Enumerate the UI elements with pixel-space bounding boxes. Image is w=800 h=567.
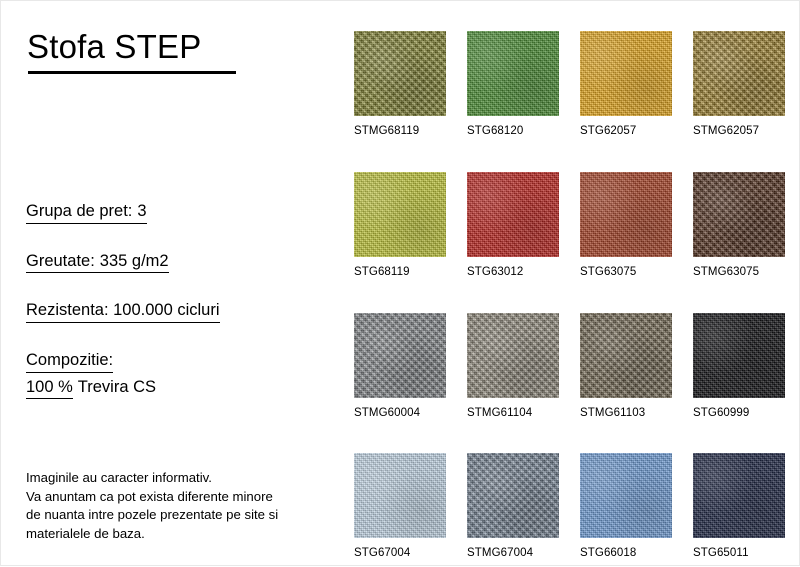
spec-resistance-label: Rezistenta: 100.000 cicluri xyxy=(26,300,220,323)
swatch-code-label: STG68120 xyxy=(467,125,559,139)
swatch-code-label: STG62057 xyxy=(580,125,672,139)
swatch-cell[interactable]: STMG62057 xyxy=(693,31,785,139)
fabric-swatch[interactable] xyxy=(580,453,672,538)
swatch-code-label: STG65011 xyxy=(693,547,785,561)
swatch-code-label: STG66018 xyxy=(580,547,672,561)
swatch-cell[interactable]: STG67004 xyxy=(354,453,446,561)
swatch-code-label: STG67004 xyxy=(354,547,446,561)
spec-resistance: Rezistenta: 100.000 cicluri xyxy=(26,300,326,323)
swatch-cell[interactable]: STG62057 xyxy=(580,31,672,139)
fabric-swatch[interactable] xyxy=(467,31,559,116)
page-title: Stofa STEP xyxy=(27,29,201,65)
spec-weight-value: 335 g/m2 xyxy=(95,252,169,270)
disclaimer-line-2: Va anuntam ca pot exista diferente minor… xyxy=(26,488,331,507)
swatch-code-label: STMG63075 xyxy=(693,266,785,280)
swatch-cell[interactable]: STMG67004 xyxy=(467,453,559,561)
specs-list: Grupa de pret:3 Greutate:335 g/m2 Rezist… xyxy=(26,201,326,399)
swatch-cell[interactable]: STG63075 xyxy=(580,172,672,280)
swatch-code-label: STMG61104 xyxy=(467,407,559,421)
fabric-swatch[interactable] xyxy=(467,453,559,538)
spec-composition-material: Trevira CS xyxy=(73,378,156,396)
fabric-swatch[interactable] xyxy=(693,31,785,116)
swatch-cell[interactable]: STMG60004 xyxy=(354,313,446,421)
spec-price-group-label: Grupa de pret: xyxy=(26,202,132,220)
title-underline xyxy=(28,71,236,74)
swatch-cell[interactable]: STMG61104 xyxy=(467,313,559,421)
swatch-grid: STMG68119STG68120STG62057STMG62057STG681… xyxy=(354,31,784,561)
spec-price-group: Grupa de pret:3 xyxy=(26,201,326,224)
fabric-swatch[interactable] xyxy=(693,313,785,398)
swatch-cell[interactable]: STMG68119 xyxy=(354,31,446,139)
swatch-cell[interactable]: STMG63075 xyxy=(693,172,785,280)
swatch-code-label: STG68119 xyxy=(354,266,446,280)
fabric-swatch[interactable] xyxy=(354,453,446,538)
spec-weight-text: Greutate:335 g/m2 xyxy=(26,251,169,274)
fabric-swatch[interactable] xyxy=(580,313,672,398)
fabric-swatch[interactable] xyxy=(467,313,559,398)
swatch-cell[interactable]: STG63012 xyxy=(467,172,559,280)
swatch-code-label: STG60999 xyxy=(693,407,785,421)
swatch-cell[interactable]: STG68120 xyxy=(467,31,559,139)
fabric-swatch[interactable] xyxy=(467,172,559,257)
spec-price-group-text: Grupa de pret:3 xyxy=(26,201,147,224)
swatch-cell[interactable]: STMG61103 xyxy=(580,313,672,421)
swatch-code-label: STMG67004 xyxy=(467,547,559,561)
swatch-cell[interactable]: STG60999 xyxy=(693,313,785,421)
fabric-swatch[interactable] xyxy=(354,31,446,116)
disclaimer-line-4: materialele de baza. xyxy=(26,525,331,544)
fabric-swatch[interactable] xyxy=(354,313,446,398)
swatch-code-label: STMG60004 xyxy=(354,407,446,421)
spec-composition: Compozitie: 100 %Trevira CS xyxy=(26,350,326,399)
spec-composition-percent: 100 % xyxy=(26,377,73,400)
fabric-swatch[interactable] xyxy=(693,172,785,257)
swatch-code-label: STMG62057 xyxy=(693,125,785,139)
fabric-swatch[interactable] xyxy=(580,31,672,116)
spec-price-group-value: 3 xyxy=(132,202,146,220)
spec-weight-label: Greutate: xyxy=(26,252,95,270)
swatch-code-label: STG63012 xyxy=(467,266,559,280)
swatch-cell[interactable]: STG66018 xyxy=(580,453,672,561)
disclaimer-text: Imaginile au caracter informativ. Va anu… xyxy=(26,469,331,544)
fabric-spec-sheet: Stofa STEP Grupa de pret:3 Greutate:335 … xyxy=(0,0,800,566)
spec-composition-label: Compozitie: xyxy=(26,350,113,373)
swatch-code-label: STG63075 xyxy=(580,266,672,280)
fabric-swatch[interactable] xyxy=(580,172,672,257)
disclaimer-line-1: Imaginile au caracter informativ. xyxy=(26,469,331,488)
info-column: Stofa STEP Grupa de pret:3 Greutate:335 … xyxy=(1,1,341,567)
disclaimer-line-3: de nuanta intre pozele prezentate pe sit… xyxy=(26,506,331,525)
fabric-swatch[interactable] xyxy=(693,453,785,538)
spec-weight: Greutate:335 g/m2 xyxy=(26,251,326,274)
swatch-cell[interactable]: STG68119 xyxy=(354,172,446,280)
swatch-code-label: STMG68119 xyxy=(354,125,446,139)
swatch-cell[interactable]: STG65011 xyxy=(693,453,785,561)
fabric-swatch[interactable] xyxy=(354,172,446,257)
swatch-code-label: STMG61103 xyxy=(580,407,672,421)
